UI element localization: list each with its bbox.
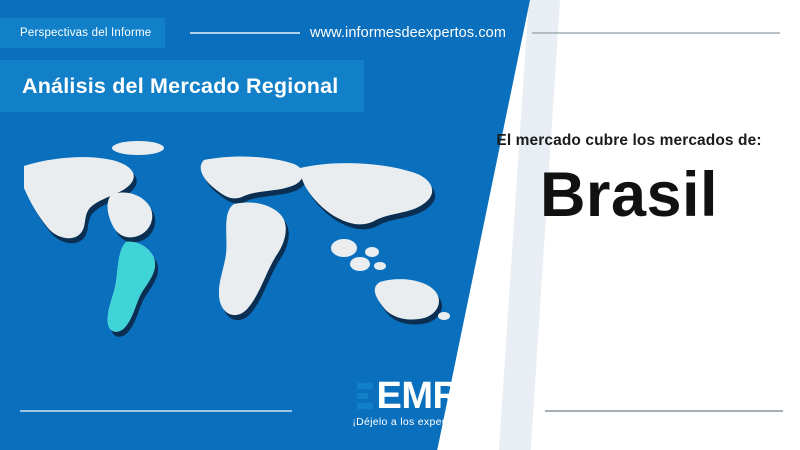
world-map-svg — [8, 130, 478, 370]
website-url-label: www.informesdeexpertos.com — [310, 25, 506, 41]
website-url[interactable]: www.informesdeexpertos.com — [310, 18, 506, 48]
emr-logo: EMR ¡Déjelo a los expertos! — [318, 378, 498, 428]
header-divider-right — [532, 32, 780, 34]
header: Perspectivas del Informe www.informesdee… — [0, 18, 800, 48]
slide-title-bar: Análisis del Mercado Regional — [0, 60, 364, 112]
logo-bars-icon — [357, 381, 373, 411]
page-title: Análisis del Mercado Regional — [22, 74, 338, 99]
emr-logo-main: EMR — [318, 378, 498, 414]
footer-divider-left — [20, 410, 292, 412]
report-insights-label: Perspectivas del Informe — [20, 27, 151, 39]
header-divider-left — [190, 32, 300, 34]
coverage-kicker: El mercado cubre los mercados de: — [470, 132, 788, 150]
country-name: Brasil — [470, 164, 788, 227]
slide-canvas: Perspectivas del Informe www.informesdee… — [0, 0, 800, 450]
coverage-text-block: El mercado cubre los mercados de: Brasil — [470, 132, 788, 227]
map-land-layer — [24, 141, 450, 332]
world-map — [8, 130, 478, 370]
emr-logo-tagline: ¡Déjelo a los expertos! — [318, 416, 498, 428]
emr-logo-text: EMR — [377, 378, 460, 414]
footer-divider-right — [545, 410, 783, 412]
report-insights-tab[interactable]: Perspectivas del Informe — [0, 18, 165, 48]
